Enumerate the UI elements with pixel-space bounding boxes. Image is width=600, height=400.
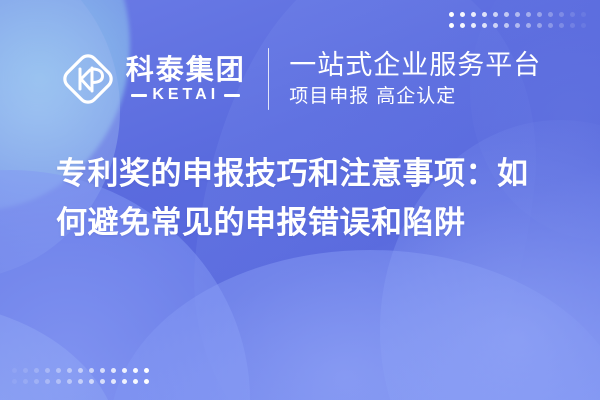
dot-row bbox=[12, 368, 149, 373]
dot bbox=[449, 23, 454, 28]
decorative-blob-left-edge bbox=[0, 300, 120, 400]
dot bbox=[460, 12, 465, 17]
dot bbox=[133, 368, 138, 373]
dot bbox=[559, 12, 564, 17]
dot-row bbox=[449, 23, 586, 28]
dot bbox=[537, 23, 542, 28]
dot bbox=[515, 23, 520, 28]
dot bbox=[122, 368, 127, 373]
dot bbox=[559, 23, 564, 28]
header-divider bbox=[268, 48, 270, 110]
dot-grid-bottom-left bbox=[12, 368, 149, 384]
dot bbox=[23, 368, 28, 373]
dot bbox=[471, 12, 476, 17]
brand-name-cn: 科泰集团 bbox=[126, 55, 246, 84]
brand-name-en-row: KETAI bbox=[131, 87, 240, 103]
banner-title: 专利奖的申报技巧和注意事项：如何避免常见的申报错误和陷阱 bbox=[56, 150, 556, 248]
decorative-blob-bottom bbox=[110, 250, 600, 400]
dot bbox=[89, 368, 94, 373]
dot bbox=[493, 12, 498, 17]
dot bbox=[581, 23, 586, 28]
brand-logo-text: 科泰集团 KETAI bbox=[126, 55, 246, 103]
dot bbox=[449, 12, 454, 17]
dot bbox=[504, 23, 509, 28]
promo-banner: 科泰集团 KETAI 一站式企业服务平台 项目申报 高企认定 专利奖的申报技巧和… bbox=[0, 0, 600, 400]
dot bbox=[482, 12, 487, 17]
dot-row bbox=[449, 12, 586, 17]
dot bbox=[45, 368, 50, 373]
dot bbox=[56, 368, 61, 373]
dot bbox=[144, 368, 149, 373]
dot bbox=[111, 379, 116, 384]
dot bbox=[570, 12, 575, 17]
dot bbox=[526, 23, 531, 28]
dot bbox=[482, 23, 487, 28]
dot bbox=[493, 23, 498, 28]
brand-logo: 科泰集团 KETAI bbox=[59, 50, 246, 108]
dot bbox=[133, 379, 138, 384]
dot bbox=[45, 379, 50, 384]
logo-dash-left-icon bbox=[131, 94, 147, 97]
brand-tagline: 一站式企业服务平台 项目申报 高企认定 bbox=[289, 50, 541, 109]
dot bbox=[504, 12, 509, 17]
banner-header: 科泰集团 KETAI 一站式企业服务平台 项目申报 高企认定 bbox=[0, 46, 600, 112]
dot bbox=[78, 368, 83, 373]
dot bbox=[122, 379, 127, 384]
dot bbox=[67, 368, 72, 373]
dot bbox=[12, 379, 17, 384]
tagline-primary: 一站式企业服务平台 bbox=[289, 50, 541, 81]
dot-row bbox=[12, 379, 149, 384]
dot bbox=[548, 12, 553, 17]
dot bbox=[537, 12, 542, 17]
dot bbox=[12, 368, 17, 373]
dot bbox=[111, 368, 116, 373]
dot bbox=[526, 12, 531, 17]
dot bbox=[23, 379, 28, 384]
dot bbox=[548, 23, 553, 28]
dot bbox=[471, 23, 476, 28]
dot bbox=[100, 379, 105, 384]
ketai-diamond-kp-logo-icon bbox=[59, 50, 117, 108]
dot bbox=[100, 368, 105, 373]
dot bbox=[581, 12, 586, 17]
dot bbox=[34, 379, 39, 384]
tagline-secondary: 项目申报 高企认定 bbox=[289, 84, 541, 109]
brand-name-en: KETAI bbox=[152, 87, 219, 103]
dot-grid-top-right bbox=[449, 12, 586, 28]
dot bbox=[89, 379, 94, 384]
dot bbox=[34, 368, 39, 373]
dot bbox=[56, 379, 61, 384]
logo-dash-right-icon bbox=[224, 94, 240, 97]
dot bbox=[460, 23, 465, 28]
dot bbox=[144, 379, 149, 384]
dot bbox=[570, 23, 575, 28]
dot bbox=[67, 379, 72, 384]
dot bbox=[515, 12, 520, 17]
dot bbox=[78, 379, 83, 384]
